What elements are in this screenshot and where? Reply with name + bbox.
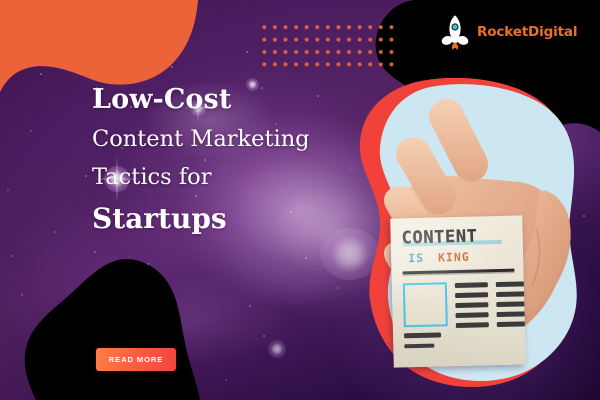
paper-left-column bbox=[403, 282, 449, 348]
paper-body bbox=[403, 281, 517, 349]
paper-text-column-1 bbox=[455, 281, 490, 347]
paper-title: CONTENT bbox=[401, 228, 513, 248]
headline-line-4: Startups bbox=[92, 204, 342, 233]
brand-logo[interactable]: RocketDigital bbox=[440, 14, 577, 50]
dot-grid-pattern bbox=[258, 20, 396, 72]
paper-subtitle-is: IS bbox=[408, 253, 424, 265]
promo-banner: Low-Cost Content Marketing Tactics for S… bbox=[0, 0, 600, 400]
paper-text-column-2 bbox=[496, 280, 526, 346]
headline-line-1: Low-Cost bbox=[92, 86, 342, 114]
paper-note: CONTENT IS KING bbox=[390, 215, 526, 367]
paper-bar bbox=[456, 322, 489, 327]
paper-subtitle-king: KING bbox=[438, 252, 470, 264]
paper-bar bbox=[456, 312, 489, 317]
paper-bar bbox=[404, 343, 434, 348]
paper-bar bbox=[496, 291, 526, 296]
brand-name: RocketDigital bbox=[477, 24, 577, 40]
paper-bar bbox=[455, 282, 488, 287]
image-placeholder-icon bbox=[403, 282, 448, 327]
paper-bar bbox=[404, 332, 441, 337]
headline-line-2: Content Marketing bbox=[92, 128, 342, 152]
paper-divider bbox=[402, 268, 514, 274]
paper-bar bbox=[455, 302, 488, 307]
paper-bar bbox=[496, 281, 526, 286]
headline: Low-Cost Content Marketing Tactics for S… bbox=[92, 86, 342, 233]
paper-subtitle: IS KING bbox=[402, 251, 514, 265]
paper-bar bbox=[497, 311, 526, 316]
hand-holding-paper: CONTENT IS KING bbox=[330, 78, 600, 400]
paper-bar bbox=[497, 321, 526, 326]
headline-line-3: Tactics for bbox=[92, 166, 342, 190]
read-more-button[interactable]: READ MORE bbox=[96, 348, 176, 371]
paper-bar bbox=[496, 301, 526, 306]
paper-bar bbox=[455, 292, 488, 297]
rocket-icon bbox=[440, 14, 470, 50]
